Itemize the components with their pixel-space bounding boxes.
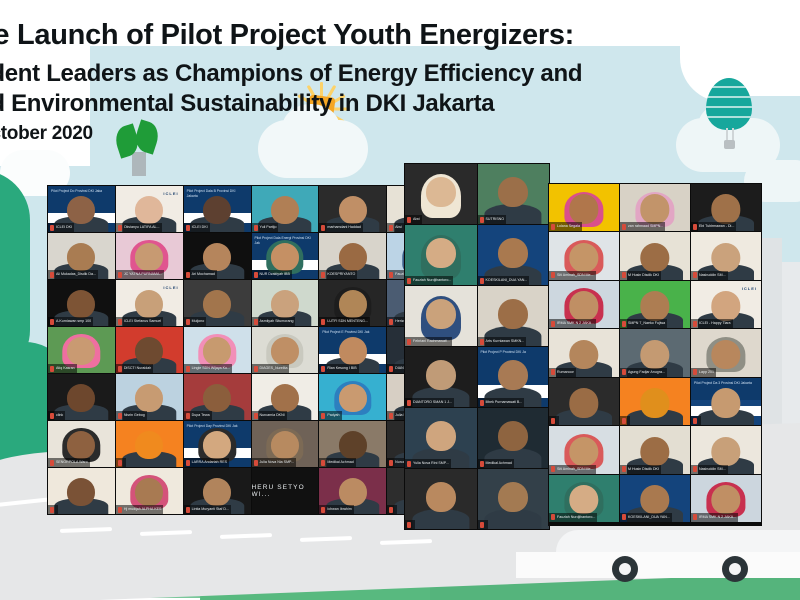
participant-nameplate: Febriani Rachmawati...: [405, 337, 452, 346]
participant-face: [640, 291, 669, 320]
participant-name: Julia Nova Nia SMP...: [260, 458, 295, 467]
video-tile[interactable]: ICLEIOkvianyu LATIFA AL...: [116, 186, 183, 232]
participant-name: SUTRISNO: [486, 215, 505, 224]
participant-nameplate: Nasiruddin SM...: [691, 271, 728, 280]
participant-nameplate: Lintia Muryanti Staf D...: [184, 505, 231, 514]
video-tile[interactable]: Pilot Project Da 3 Provinsi DKI Jakarta: [691, 378, 761, 425]
video-tile[interactable]: Nurcarnia DKNI: [252, 374, 319, 420]
muted-mic-icon: [407, 522, 411, 528]
participant-face: [498, 177, 528, 207]
video-tile[interactable]: HERU SETYO WI...: [252, 468, 319, 514]
muted-mic-icon: [254, 460, 258, 466]
participant-nameplate: [116, 458, 126, 467]
participant-name: Ali Mukadas_Disdik Da...: [56, 270, 96, 279]
video-tile[interactable]: KOESPRIYANTO: [319, 233, 386, 279]
video-tile[interactable]: SUTRISNO: [478, 164, 550, 224]
participant-nameplate: Nasiruddin SM...: [691, 465, 728, 474]
video-tile[interactable]: KOESKILANI_DUA YAN...: [478, 225, 550, 285]
video-tile[interactable]: A.Kurniawan smp 100: [48, 280, 115, 326]
video-tile[interactable]: Febriani Rachmawati...: [405, 286, 477, 346]
participant-name: NUR Dzakiyah IBB: [260, 270, 290, 279]
muted-mic-icon: [480, 278, 484, 284]
muted-mic-icon: [186, 319, 190, 325]
participant-nameplate: marhamdani Haddad: [319, 223, 363, 232]
participant-nameplate: [549, 416, 559, 425]
video-tile[interactable]: IRMA SMK N 2 JAKA...: [549, 281, 619, 328]
muted-mic-icon: [551, 418, 555, 424]
participant-face: [67, 384, 95, 412]
participant-nameplate: Yuli Partijo: [252, 223, 279, 232]
muted-mic-icon: [389, 366, 393, 372]
video-tile[interactable]: Pilot Project E Provinsi DKI JakRian Kes…: [319, 327, 386, 373]
participant-name: Dupa Tewa: [192, 411, 210, 420]
participant-face: [711, 243, 740, 272]
video-tile[interactable]: Pilot Project Do Provinsi DKI JakaICLEI …: [48, 186, 115, 232]
participant-name: Rumanoor: [557, 368, 574, 377]
participant-face: [271, 196, 299, 224]
participant-face: [426, 482, 456, 512]
participant-name: IRMA SMK N 2 JAKA...: [699, 513, 736, 522]
video-tile[interactable]: Agung Fadjar Anugra...: [620, 329, 690, 376]
participant-nameplate: Nurcarnia DKNI: [252, 411, 287, 420]
muted-mic-icon: [50, 366, 54, 372]
video-tile[interactable]: Padyah: [319, 374, 386, 420]
muted-mic-icon: [321, 319, 325, 325]
participant-face: [339, 196, 367, 224]
participant-nameplate: Siti Aminah_SDN Me...: [549, 271, 596, 280]
participant-face: [569, 243, 598, 272]
video-tile[interactable]: [478, 469, 550, 529]
participant-nameplate: Fauziah Nurdjihantoro...: [549, 513, 597, 522]
muted-mic-icon: [321, 272, 325, 278]
participant-name: M Husin Disdik DKI: [628, 271, 659, 280]
participant-name: zan rahmaad SMPN...: [628, 222, 663, 231]
participant-nameplate: M Husin Disdik DKI: [620, 271, 661, 280]
video-tile[interactable]: Julia Nova Nia SMP...: [252, 421, 319, 467]
participant-name: ICLEI - Happy Tiara: [699, 319, 731, 328]
participant-face: [339, 290, 367, 318]
muted-mic-icon: [50, 460, 54, 466]
video-tile[interactable]: Rumanoor: [549, 329, 619, 376]
participant-nameplate: ICLEI Stefanus Samuel: [116, 317, 163, 326]
participant-nameplate: Fauziah Nurdjihantoro...: [405, 276, 453, 285]
participant-face: [339, 337, 367, 365]
video-tile[interactable]: Alwi: [405, 164, 477, 224]
participant-face: [640, 437, 669, 466]
participant-nameplate: LUTFI SDN MENTENG...: [319, 317, 370, 326]
participant-name: Ebi Tubirmawan - Di...: [699, 222, 734, 231]
participant-face: [271, 243, 299, 271]
participant-face: [640, 243, 669, 272]
video-tile[interactable]: Pilot Project Day Provinsi DKI JakLARRA …: [184, 421, 251, 467]
participant-name: Siti Aminah_SDN Me...: [557, 465, 594, 474]
muted-mic-icon: [50, 507, 54, 513]
participant-face: [135, 196, 163, 224]
muted-mic-icon: [321, 225, 325, 231]
participant-face: [339, 478, 367, 506]
participant-nameplate: Lingle SDN Wijaya Ku...: [184, 364, 232, 373]
muted-mic-icon: [321, 507, 325, 513]
participant-name: Medikal Achmad: [327, 458, 353, 467]
participant-face: [711, 437, 740, 466]
video-tile[interactable]: Fauziah Nurdjihantoro...: [549, 475, 619, 522]
muted-mic-icon: [118, 413, 122, 419]
participant-nameplate: Padyah: [319, 411, 341, 420]
participant-name: Nasiruddin SM...: [699, 465, 726, 474]
participant-nameplate: A.Kurniawan smp 100: [48, 317, 93, 326]
muted-mic-icon: [622, 224, 626, 230]
participant-nameplate: DIAGES_Nurelita: [252, 364, 290, 373]
participant-face: [67, 478, 95, 506]
participant-face: [711, 485, 740, 514]
participant-name: LARRA Andariah RES: [192, 458, 227, 467]
video-tile[interactable]: Medikal Achmad: [478, 408, 550, 468]
participant-name: Nasiruddin SM...: [699, 271, 726, 280]
video-tile[interactable]: Siti Aminah_SDN Me...: [549, 426, 619, 473]
muted-mic-icon: [186, 272, 190, 278]
video-tile[interactable]: [48, 468, 115, 514]
video-tile[interactable]: marhamdani Haddad: [319, 186, 386, 232]
video-grid-right[interactable]: Lolana Segalazan rahmaad SMPN...Ebi Tubi…: [548, 183, 762, 526]
participant-face: [569, 340, 598, 369]
participant-nameplate: NUR Dzakiyah IBB: [252, 270, 292, 279]
slide-title-block: he Launch of Pilot Project Youth Energiz…: [0, 18, 716, 147]
participant-nameplate: Arts Kurniawan SMKN...: [478, 337, 527, 346]
muted-mic-icon: [693, 224, 697, 230]
participant-nameplate: [387, 505, 397, 514]
muted-mic-icon: [321, 413, 325, 419]
participant-name: DIANTORO SMAN 1 J...: [413, 398, 452, 407]
participant-face: [203, 196, 231, 224]
video-tile[interactable]: [549, 378, 619, 425]
participant-name: M Husin Disdik DKI: [628, 465, 659, 474]
participant-nameplate: Ichwan Ibrahim: [319, 505, 353, 514]
video-tile[interactable]: KOESKILANI_DUA YAN...: [620, 475, 690, 522]
participant-nameplate: clink: [48, 411, 65, 420]
muted-mic-icon: [480, 400, 484, 406]
participant-nameplate: Medikal Achmad: [319, 458, 355, 467]
participant-nameplate: Yulia Nova Rini SMP...: [405, 459, 451, 468]
muted-mic-icon: [389, 319, 393, 325]
muted-mic-icon: [186, 507, 190, 513]
muted-mic-icon: [622, 466, 626, 472]
participant-name: ICLEI Stefanus Samuel: [124, 317, 161, 326]
muted-mic-icon: [622, 272, 626, 278]
muted-mic-icon: [480, 217, 484, 223]
video-grid-main[interactable]: Pilot Project Do Provinsi DKI JakaICLEI …: [47, 185, 455, 515]
muted-mic-icon: [254, 319, 258, 325]
participant-face: [135, 243, 163, 271]
video-tile[interactable]: Lolana Segala: [549, 184, 619, 231]
participant-name: ICLEI DKI: [56, 223, 72, 232]
participant-nameplate: ICLEI - Happy Tiara: [691, 319, 733, 328]
muted-mic-icon: [622, 418, 626, 424]
muted-mic-icon: [622, 514, 626, 520]
muted-mic-icon: [407, 278, 411, 284]
participant-nameplate: Siti Aminah_SDN Me...: [549, 465, 596, 474]
video-tile[interactable]: Pilot Project P Provinsi DKI JaIlibek Pu…: [478, 347, 550, 407]
participant-face: [426, 177, 456, 207]
participant-name-placeholder: HERU SETYO WI...: [252, 468, 319, 514]
slide-canvas: he Launch of Pilot Project Youth Energiz…: [0, 0, 800, 600]
video-tile[interactable]: SENORPOLA Waro: [48, 421, 115, 467]
muted-mic-icon: [254, 272, 258, 278]
participant-name: Lingle SDN Wijaya Ku...: [192, 364, 230, 373]
participant-face: [135, 431, 163, 459]
muted-mic-icon: [50, 225, 54, 231]
muted-mic-icon: [551, 224, 555, 230]
participant-nameplate: SENORPOLA Waro: [48, 458, 90, 467]
participant-nameplate: SMPN 7_Naeko Fujiwa: [620, 319, 667, 328]
muted-mic-icon: [480, 461, 484, 467]
participant-face: [271, 384, 299, 412]
iclei-logo: ICLEI: [163, 191, 178, 196]
video-tile[interactable]: DIAGES_Nurelita: [252, 327, 319, 373]
video-tile[interactable]: Dupa Tewa: [184, 374, 251, 420]
video-tile[interactable]: JC YATNA PURNAMA...: [116, 233, 183, 279]
participant-nameplate: KOESKILANI_DUA YAN...: [478, 276, 530, 285]
muted-mic-icon: [186, 460, 190, 466]
participant-nameplate: Atiq Kasran: [48, 364, 77, 373]
building-silhouette-icon: [782, 262, 800, 438]
muted-mic-icon: [693, 418, 697, 424]
video-tile[interactable]: Arts Kurniawan SMKN...: [478, 286, 550, 346]
participant-name: Lapp 201: [699, 368, 714, 377]
video-tile[interactable]: ICLEIICLEI Stefanus Samuel: [116, 280, 183, 326]
participant-nameplate: Asmilyah Situmorang: [252, 317, 296, 326]
participant-name: A.Kurniawan smp 100: [56, 317, 91, 326]
participant-nameplate: Rian Kesong I BIB: [319, 364, 358, 373]
participant-name: Alwi: [413, 215, 420, 224]
video-tile[interactable]: Nasiruddin SM...: [691, 426, 761, 473]
muted-mic-icon: [407, 461, 411, 467]
video-tile[interactable]: Yuli Partijo: [252, 186, 319, 232]
video-tile[interactable]: Hj mudijah ALPHA KES: [116, 468, 183, 514]
video-tile[interactable]: Nasiruddin SM...: [691, 232, 761, 279]
video-tile[interactable]: Ebi Tubirmawan - Di...: [691, 184, 761, 231]
participant-face: [271, 431, 299, 459]
video-tile[interactable]: Yulia Nova Rini SMP...: [405, 408, 477, 468]
participant-face: [271, 337, 299, 365]
participant-name: Siti Aminah_SDN Me...: [557, 271, 594, 280]
participant-face: [711, 340, 740, 369]
video-tile[interactable]: Lingle SDN Wijaya Ku...: [184, 327, 251, 373]
muted-mic-icon: [254, 366, 258, 372]
video-tile[interactable]: Ichwan Ibrahim: [319, 468, 386, 514]
participant-face: [339, 431, 367, 459]
video-tile[interactable]: clink: [48, 374, 115, 420]
participant-face: [67, 196, 95, 224]
participant-name: Hj mudijah ALPHA KES: [124, 505, 162, 514]
title-line-2: udent Leaders as Champions of Energy Eff…: [0, 59, 716, 89]
participant-name: Atiq Kasran: [56, 364, 75, 373]
participant-face: [339, 243, 367, 271]
participant-nameplate: Alwi: [405, 215, 422, 224]
muted-mic-icon: [693, 466, 697, 472]
participant-face: [426, 421, 456, 451]
participant-nameplate: M Husin Disdik DKI: [620, 465, 661, 474]
video-tile[interactable]: Fauziah Nurdjihantoro...: [405, 225, 477, 285]
muted-mic-icon: [389, 460, 393, 466]
participant-face: [569, 388, 598, 417]
video-tile[interactable]: [405, 469, 477, 529]
participant-face: [135, 290, 163, 318]
participant-nameplate: [691, 416, 701, 425]
video-tile[interactable]: LUTFI SDN MENTENG...: [319, 280, 386, 326]
participant-nameplate: Muljono: [184, 317, 207, 326]
participant-nameplate: Lapp 201: [691, 368, 716, 377]
video-tile[interactable]: Ali Mukadas_Disdik Da...: [48, 233, 115, 279]
video-tile[interactable]: [620, 378, 690, 425]
muted-mic-icon: [480, 522, 484, 528]
participant-nameplate: Ebi Tubirmawan - Di...: [691, 222, 736, 231]
participant-name: KOESKILANI_DUA YAN...: [486, 276, 528, 285]
participant-nameplate: DIANTORO SMAN 1 J...: [405, 398, 454, 407]
participant-name: Rian Kesong I BIB: [327, 364, 356, 373]
participant-nameplate: LARRA Andariah RES: [184, 458, 229, 467]
participant-face: [569, 194, 598, 223]
participant-name: Ichwan Ibrahim: [327, 505, 351, 514]
video-tile[interactable]: IRMA SMK N 2 JAKA...: [691, 475, 761, 522]
participant-nameplate: Rumanoor: [549, 368, 576, 377]
participant-face: [67, 337, 95, 365]
participant-face: [203, 290, 231, 318]
video-tile[interactable]: Atiq Kasran: [48, 327, 115, 373]
video-tile[interactable]: Muljono: [184, 280, 251, 326]
participant-nameplate: Ari Mochamad: [184, 270, 217, 279]
muted-mic-icon: [118, 460, 122, 466]
muted-mic-icon: [389, 413, 393, 419]
muted-mic-icon: [551, 466, 555, 472]
participant-name: Alwi: [395, 223, 402, 232]
participant-name: Okvianyu LATIFA AL...: [124, 223, 160, 232]
video-tile[interactable]: Medikal Achmad: [319, 421, 386, 467]
participant-name: Lolana Segala: [557, 222, 580, 231]
participant-face: [569, 485, 598, 514]
video-tile[interactable]: Asmilyah Situmorang: [252, 280, 319, 326]
video-tile[interactable]: Lapp 201: [691, 329, 761, 376]
video-tile[interactable]: SMPN 7_Naeko Fujiwa: [620, 281, 690, 328]
participant-face: [498, 360, 528, 390]
participant-name: Muljono: [192, 317, 205, 326]
muted-mic-icon: [693, 514, 697, 520]
participant-name: DISCT! Nuraidah: [124, 364, 151, 373]
participant-name: marhamdani Haddad: [327, 223, 361, 232]
participant-face: [426, 238, 456, 268]
muted-mic-icon: [389, 507, 393, 513]
participant-name: Fauziah Nurdjihantoro...: [557, 513, 595, 522]
muted-mic-icon: [622, 369, 626, 375]
muted-mic-icon: [50, 413, 54, 419]
muted-mic-icon: [693, 369, 697, 375]
participant-name: Arts Kurniawan SMKN...: [486, 337, 525, 346]
participant-face: [498, 299, 528, 329]
participant-name: Ari Mochamad: [192, 270, 215, 279]
muted-mic-icon: [693, 321, 697, 327]
video-tile[interactable]: Pilot Project Dala B Provinsi DKI Jakart…: [184, 186, 251, 232]
video-tile[interactable]: DISCT! Nuraidah: [116, 327, 183, 373]
participant-face: [135, 478, 163, 506]
participant-face: [67, 243, 95, 271]
participant-name: Febriani Rachmawati...: [413, 337, 450, 346]
muted-mic-icon: [50, 319, 54, 325]
video-tile[interactable]: [116, 421, 183, 467]
participant-nameplate: Ilibek Purnamawati B...: [478, 398, 525, 407]
participant-face: [498, 482, 528, 512]
video-tile[interactable]: Siti Aminah_SDN Me...: [549, 232, 619, 279]
video-grid-center[interactable]: AlwiSUTRISNOFauziah Nurdjihantoro...KOES…: [404, 163, 550, 530]
title-line-1: he Launch of Pilot Project Youth Energiz…: [0, 18, 716, 52]
video-tile[interactable]: M Husin Disdik DKI: [620, 426, 690, 473]
video-tile[interactable]: Lintia Muryanti Staf D...: [184, 468, 251, 514]
participant-name: Fauziah Nurdjihantoro...: [413, 276, 451, 285]
participant-name: Agung Fadjar Anugra...: [628, 368, 665, 377]
muted-mic-icon: [551, 272, 555, 278]
participant-nameplate: zan rahmaad SMPN...: [620, 222, 665, 231]
car-icon: [556, 530, 800, 600]
participant-nameplate: [405, 520, 415, 529]
video-tile[interactable]: Pilot Project Dala Energi Provinsi DKI J…: [252, 233, 319, 279]
muted-mic-icon: [321, 366, 325, 372]
participant-face: [426, 360, 456, 390]
participant-nameplate: [48, 505, 58, 514]
participant-name: ICLEI DKI: [192, 223, 208, 232]
video-tile[interactable]: Nisrin Gebog: [116, 374, 183, 420]
muted-mic-icon: [186, 225, 190, 231]
participant-face: [203, 243, 231, 271]
participant-name: Ilibek Purnamawati B...: [486, 398, 523, 407]
participant-face: [67, 290, 95, 318]
participant-nameplate: Dupa Tewa: [184, 411, 212, 420]
muted-mic-icon: [407, 217, 411, 223]
participant-nameplate: [478, 520, 488, 529]
video-tile[interactable]: DIANTORO SMAN 1 J...: [405, 347, 477, 407]
participant-face: [569, 437, 598, 466]
participant-face: [203, 478, 231, 506]
participant-face: [135, 337, 163, 365]
participant-face: [426, 299, 456, 329]
video-tile[interactable]: zan rahmaad SMPN...: [620, 184, 690, 231]
participant-nameplate: Okvianyu LATIFA AL...: [116, 223, 162, 232]
participant-face: [203, 337, 231, 365]
video-tile[interactable]: ICLEIICLEI - Happy Tiara: [691, 281, 761, 328]
muted-mic-icon: [321, 460, 325, 466]
muted-mic-icon: [118, 366, 122, 372]
muted-mic-icon: [389, 225, 393, 231]
muted-mic-icon: [407, 339, 411, 345]
participant-face: [135, 384, 163, 412]
muted-mic-icon: [50, 272, 54, 278]
participant-face: [569, 291, 598, 320]
muted-mic-icon: [186, 413, 190, 419]
muted-mic-icon: [186, 366, 190, 372]
participant-name: Nisrin Gebog: [124, 411, 145, 420]
participant-face: [711, 388, 740, 417]
video-tile[interactable]: M Husin Disdik DKI: [620, 232, 690, 279]
participant-nameplate: IRMA SMK N 2 JAKA...: [549, 319, 596, 328]
participant-face: [67, 431, 95, 459]
participant-name: Medikal Achmad: [486, 459, 512, 468]
participant-name: Asmilyah Situmorang: [260, 317, 294, 326]
muted-mic-icon: [622, 321, 626, 327]
muted-mic-icon: [551, 321, 555, 327]
video-tile[interactable]: Ari Mochamad: [184, 233, 251, 279]
participant-nameplate: Ali Mukadas_Disdik Da...: [48, 270, 98, 279]
participant-face: [271, 290, 299, 318]
muted-mic-icon: [254, 225, 258, 231]
muted-mic-icon: [551, 514, 555, 520]
iclei-logo: ICLEI: [742, 286, 757, 291]
